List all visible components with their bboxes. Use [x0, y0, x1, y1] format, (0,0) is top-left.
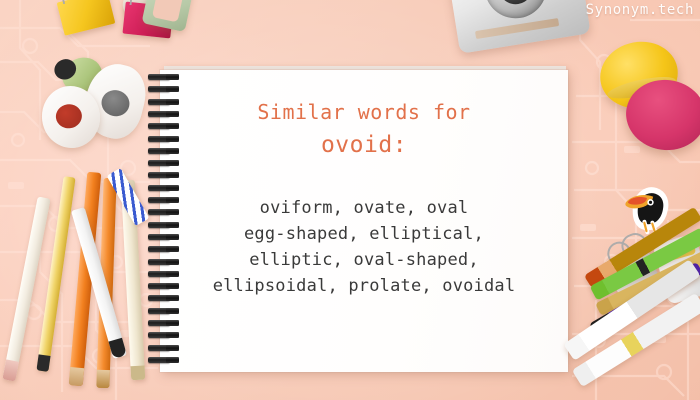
spiral-ring [148, 222, 181, 228]
spiral-ring [148, 234, 181, 240]
spiral-ring [148, 283, 181, 289]
spiral-ring [148, 271, 181, 277]
spiral-ring [148, 86, 181, 92]
synonym-list: oviform, ovate, oval egg-shaped, ellipti… [160, 195, 568, 299]
camera-prop [445, 0, 590, 54]
brand-watermark: Synonym.tech [586, 2, 694, 18]
page-heading: Similar words for [160, 100, 568, 124]
spiral-ring [148, 136, 181, 142]
synonym-line: ellipsoidal, prolate, ovoidal [160, 273, 568, 299]
spiral-ring [148, 74, 181, 80]
spiral-ring [148, 185, 181, 191]
synonym-line: elliptic, oval-shaped, [160, 247, 568, 273]
synonym-line: egg-shaped, elliptical, [160, 221, 568, 247]
notepad: Similar words for ovoid: oviform, ovate,… [160, 70, 568, 372]
desk-scene: Similar words for ovoid: oviform, ovate,… [0, 0, 700, 400]
spiral-ring [148, 123, 181, 129]
spiral-ring [148, 308, 181, 314]
spiral-ring [148, 332, 181, 338]
spiral-ring [148, 295, 181, 301]
spiral-ring [148, 345, 181, 351]
spiral-ring [148, 197, 181, 203]
spiral-ring [148, 172, 181, 178]
spiral-ring [148, 357, 181, 363]
spiral-ring [148, 259, 181, 265]
spiral-ring [148, 148, 181, 154]
spiral-ring [148, 111, 181, 117]
query-word: ovoid: [160, 132, 568, 158]
spiral-ring [148, 320, 181, 326]
spiral-binding [148, 72, 184, 370]
spiral-ring [148, 99, 181, 105]
spiral-ring [148, 209, 181, 215]
binder-clip-yellow-icon [57, 0, 116, 36]
spiral-ring [148, 160, 181, 166]
spiral-ring [148, 246, 181, 252]
synonym-line: oviform, ovate, oval [160, 195, 568, 221]
